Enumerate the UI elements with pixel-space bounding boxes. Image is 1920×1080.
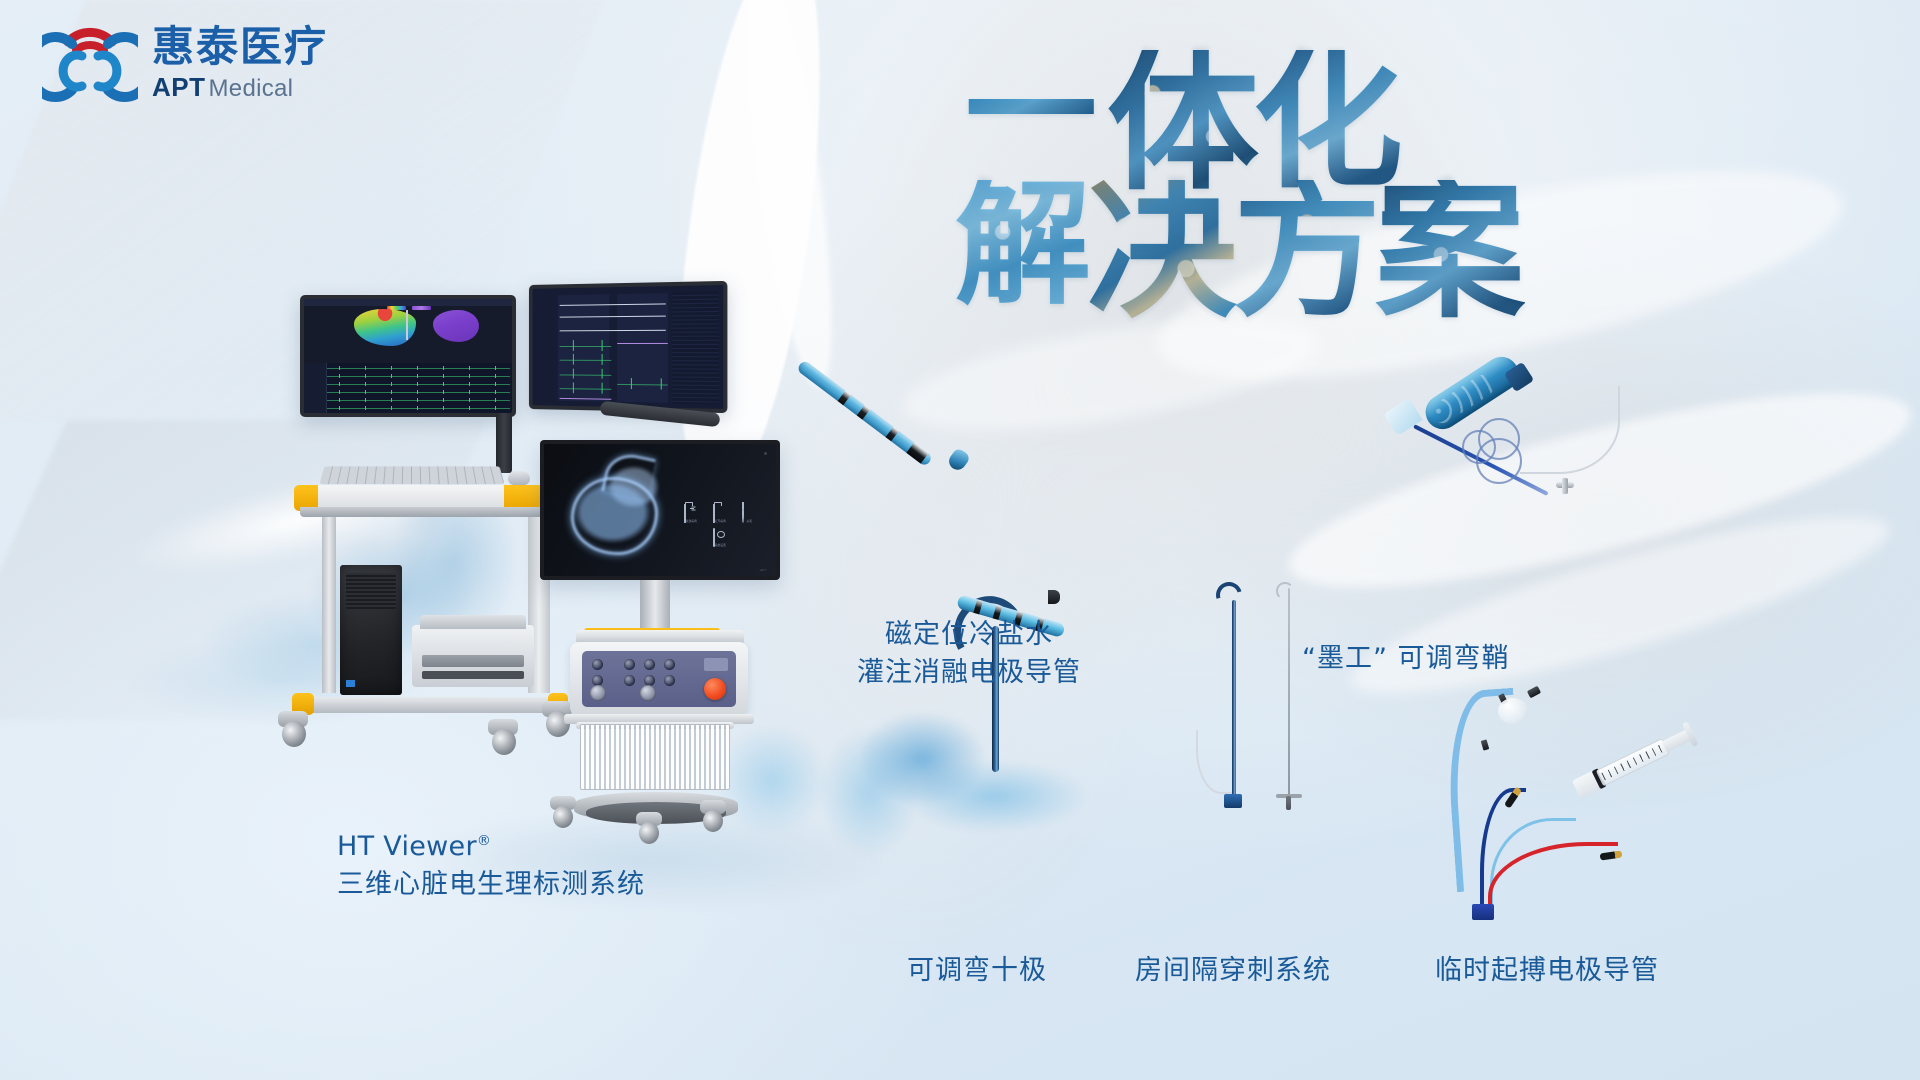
storage-basket [580,724,730,790]
cart-base [296,697,566,713]
display-brand-text: APT [760,568,767,572]
connector-port[interactable] [664,659,675,670]
printer [412,625,534,687]
connector-port[interactable] [664,675,675,686]
headline-calligraphy: 一 体 化 解 决 方 案 [965,50,1645,350]
inflation-balloon [1498,698,1528,724]
cart-worktop-edge [300,507,566,517]
icon-label: 打开病例 [715,519,726,523]
open-folder-icon [713,505,728,517]
generator-front-panel [582,651,736,707]
new-patient-folder-button[interactable]: 新建病例 [684,505,699,523]
heart-display-screen: 新建病例 打开病例 关机 [544,444,776,576]
cart-caster [278,711,308,753]
product-name-en: HT Viewer [337,831,477,862]
display-icon-group: 新建病例 打开病例 关机 [679,505,763,547]
transseptal-system-image [1190,578,1320,808]
needle-curve [1211,577,1246,612]
connector-pin [1600,851,1623,861]
printer-lid [420,615,526,629]
catheter-hub [1472,904,1494,920]
headline-char: 一 [965,50,1097,175]
color-scale-bar [412,306,431,310]
brand-name-en-bold: APT [152,72,206,103]
ecg-waveform-pane [304,363,512,413]
emergency-stop-button[interactable] [704,678,726,700]
pc-tower [340,565,402,695]
electrode-band [857,405,870,420]
ht-viewer-name-en: HT Viewer® [337,828,645,866]
monitor-led-icon [764,452,767,455]
label-line-1: 磁定位冷盐水 [857,616,1081,654]
monitor-toolbar [304,299,512,306]
mapping-3d-view [304,299,512,363]
cart-caster [550,796,576,832]
side-port-tubing [1196,730,1232,794]
brand-logo: 惠泰医疗 APT Medical [42,16,328,112]
poster-canvas: 惠泰医疗 APT Medical 一 体 化 解 决 方 案 [0,0,1920,1080]
connector-port-large[interactable] [590,685,606,701]
headline-char: 解 [955,180,1091,309]
electrode-band [973,599,983,614]
cart-body [300,485,566,735]
curve-diagram [1458,412,1538,482]
printer-tray [422,655,524,667]
icon-label: 关机 [747,519,753,523]
hemostasis-valve [1550,476,1578,494]
catheter-tip [1048,590,1060,604]
electrode-band [886,427,899,442]
pacing-catheter-image [1450,690,1740,915]
label-pacing-catheter: 临时起搏电极导管 [1435,952,1659,990]
signal-monitor [529,281,727,413]
mapping-monitor-screen [304,299,512,413]
irrigation-tip [946,447,972,473]
pc-badge [346,680,355,687]
transseptal-needle [1232,600,1236,798]
electrode-band [838,391,851,406]
open-folder-button[interactable]: 打开病例 [713,505,728,523]
heart-display-monitor: 新建病例 打开病例 关机 [540,440,780,580]
guidewire [1288,588,1290,800]
guidewire-tip [1276,582,1294,600]
ecg-channel-list [304,363,327,413]
signal-data-table [671,291,719,405]
heart-illustration [553,452,683,568]
power-button[interactable]: 关机 [742,505,757,523]
ht-viewer-name-cn: 三维心脏电生理标测系统 [337,866,645,904]
keyboard[interactable] [320,466,505,484]
connector-port[interactable] [644,659,655,670]
catheter-trace [406,310,408,339]
connector-port[interactable] [592,659,603,670]
pc-vent [346,573,396,609]
trademark-symbol: ® [477,833,491,849]
cart-caster [488,719,518,761]
needle-hub [1224,794,1242,808]
label-transseptal: 房间隔穿刺系统 [1135,952,1331,990]
connector-port-large[interactable] [640,685,656,701]
apt-medical-logo-icon [42,16,138,112]
settings-button[interactable]: 系统设置 [713,529,728,547]
ablation-catheter-image [800,358,970,478]
generator-display-badge [704,658,728,671]
connector-port[interactable] [624,659,635,670]
new-patient-folder-icon [684,505,699,517]
label-ablation-catheter: 磁定位冷盐水 灌注消融电极导管 [857,616,1081,693]
printer-slot [422,671,524,679]
headline-char: 决 [1087,180,1237,323]
headline-char: 案 [1375,180,1525,323]
rf-generator [570,642,748,716]
brand-name-cn: 惠泰医疗 [152,25,328,69]
label-ht-viewer: HT Viewer® 三维心脏电生理标测系统 [337,828,645,905]
label-steerable-sheath: “墨工” 可调弯鞘 [1302,640,1510,678]
generator-cart: 新建病例 打开病例 关机 [540,440,800,870]
cart-caster [700,800,726,836]
headline-char: 方 [1233,180,1381,321]
steerable-sheath-image [1400,360,1640,520]
icon-label: 新建病例 [686,519,697,523]
label-decapolar: 可调弯十极 [907,952,1047,990]
power-icon [742,505,757,517]
heart-map-model [433,310,479,342]
catheter-shaft [796,359,933,467]
monitor-arm [496,413,512,473]
guidewire-shaft [1286,796,1291,810]
mapping-monitor [300,295,516,417]
settings-icon [713,529,728,541]
cart-column [322,517,336,693]
mouse[interactable] [508,471,530,485]
connector-port[interactable] [624,675,635,686]
inflation-syringe [1571,719,1701,803]
signal-monitor-screen [533,285,724,409]
label-line-2: 灌注消融电极导管 [857,654,1081,692]
catheter-tip-electrode [906,442,928,463]
brand-name-en-light: Medical [209,75,294,103]
icon-label: 系统设置 [715,543,726,547]
